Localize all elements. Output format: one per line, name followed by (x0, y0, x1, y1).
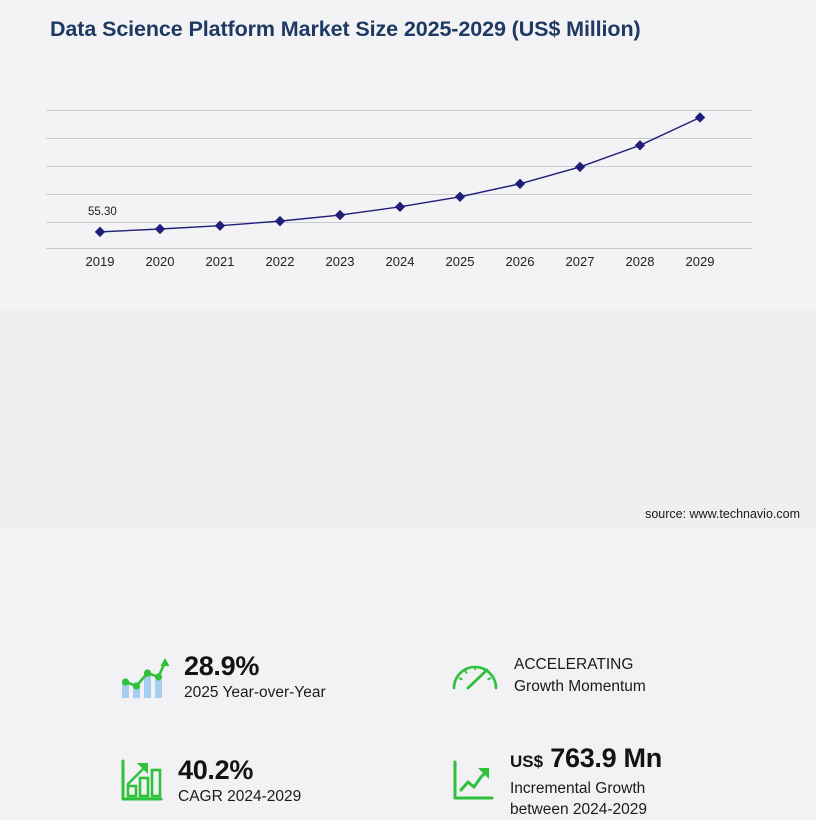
data-point (215, 221, 225, 231)
metric-increment: US$ 763.9 Mn Incremental Growth between … (450, 742, 662, 820)
metric-cagr-text: 40.2% CAGR 2024-2029 (178, 754, 301, 807)
line-chart-arrow-icon (450, 758, 496, 804)
metric-increment-text: US$ 763.9 Mn Incremental Growth between … (510, 742, 662, 820)
metric-increment-value: US$ 763.9 Mn (510, 742, 662, 778)
data-point (155, 224, 165, 234)
data-point (335, 210, 345, 220)
data-point (515, 179, 525, 189)
metric-cagr-value: 40.2% (178, 754, 301, 786)
line-series (46, 100, 752, 248)
metric-yoy-text: 28.9% 2025 Year-over-Year (184, 650, 326, 703)
metric-cagr-caption: CAGR 2024-2029 (178, 786, 301, 807)
bar-chart-arrow-icon (118, 758, 164, 804)
data-point (395, 202, 405, 212)
metric-yoy-caption: 2025 Year-over-Year (184, 682, 326, 703)
metric-increment-amount: 763.9 Mn (550, 743, 662, 773)
data-point (95, 227, 105, 237)
metric-yoy-value: 28.9% (184, 650, 326, 682)
data-point-label-2019: 55.30 (88, 206, 117, 218)
data-point (575, 162, 585, 172)
source-note: source: www.technavio.com (645, 507, 800, 521)
chart-region: Data Science Platform Market Size 2025-2… (0, 0, 816, 310)
metric-increment-caption-line2: between 2024-2029 (510, 799, 662, 820)
metric-yoy: 28.9% 2025 Year-over-Year (118, 650, 326, 703)
x-axis-label-2029: 2029 (665, 254, 735, 269)
metrics-panel: 28.9% 2025 Year-over-Year ACCELERATING G… (0, 310, 816, 528)
plot-area (46, 100, 752, 248)
metric-increment-unit: US$ (510, 752, 543, 771)
metric-increment-caption-line1: Incremental Growth (510, 778, 662, 799)
metric-momentum-head: ACCELERATING (514, 653, 646, 676)
growth-bars-line-icon (118, 653, 170, 701)
metric-momentum-caption: Growth Momentum (514, 676, 646, 697)
metric-cagr: 40.2% CAGR 2024-2029 (118, 754, 301, 807)
data-point (635, 140, 645, 150)
metric-momentum-text: ACCELERATING Growth Momentum (514, 653, 646, 697)
data-point (695, 112, 705, 122)
axis-baseline (46, 248, 752, 249)
metric-momentum: ACCELERATING Growth Momentum (450, 653, 646, 697)
page-title: Data Science Platform Market Size 2025-2… (50, 14, 710, 45)
data-point (455, 192, 465, 202)
data-point (275, 216, 285, 226)
x-axis: 2019202020212022202320242025202620272028… (46, 254, 752, 276)
speedometer-icon (450, 654, 500, 696)
